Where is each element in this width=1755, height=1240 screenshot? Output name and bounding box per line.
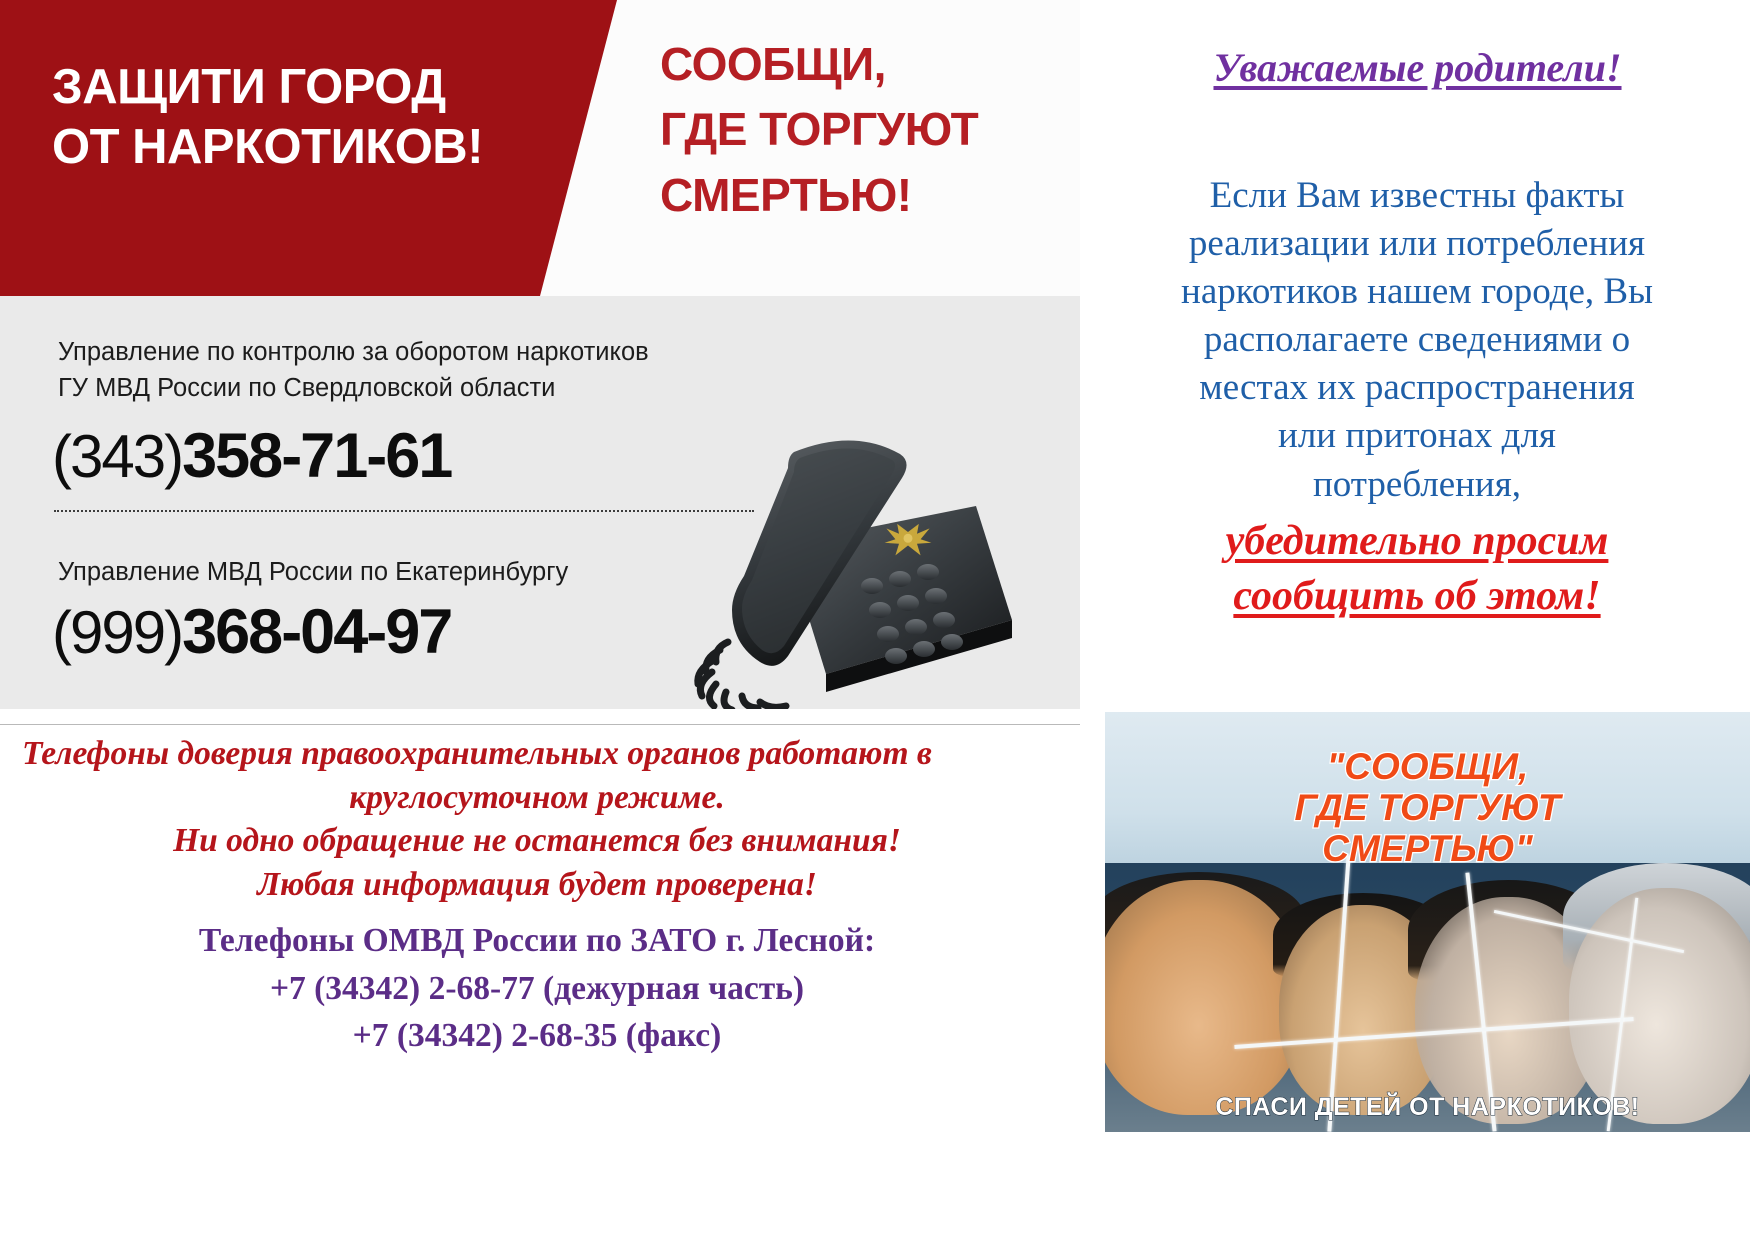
notice-line-4: Любая информация будет проверена! [14, 863, 1060, 907]
omvd-phone-duty: +7 (34342) 2-68-77 (дежурная часть) [14, 965, 1060, 1013]
appeal-call-to-action: убедительно просим сообщить об этом! [1092, 514, 1742, 625]
hotline-phone-2-area: (999) [52, 599, 182, 666]
banner-right-line-3: СМЕРТЬЮ! [660, 163, 1060, 228]
org-name-drug-control-line-1: Управление по контролю за оборотом нарко… [58, 336, 649, 370]
notice-line-3: Ни одно обращение не останется без внима… [14, 819, 1060, 863]
banner-left-slogan: ЗАЩИТИ ГОРОД ОТ НАРКОТИКОВ! [52, 58, 572, 178]
poster-headline-line-3: СМЕРТЬЮ" [1105, 828, 1750, 869]
appeal-body-line-3: наркотиков нашем городе, Вы [1092, 268, 1742, 316]
omvd-phone-fax: +7 (34342) 2-68-35 (факс) [14, 1012, 1060, 1060]
child-4-face [1569, 888, 1750, 1123]
hotline-phone-2: (999)368-04-97 [52, 596, 451, 668]
appeal-body-line-5: местах их распространения [1092, 364, 1742, 412]
banner-right-slogan: СООБЩИ, ГДЕ ТОРГУЮТ СМЕРТЬЮ! [660, 32, 1060, 228]
contact-divider [54, 510, 754, 512]
notice-block: Телефоны доверия правоохранительных орга… [0, 712, 1080, 1240]
notice-text: Телефоны доверия правоохранительных орга… [14, 732, 1060, 906]
appeal-body-line-2: реализации или потребления [1092, 220, 1742, 268]
banner-right-line-1: СООБЩИ, [660, 32, 1060, 97]
poster-headline-line-1: "СООБЩИ, [1105, 746, 1750, 787]
banner-right-line-2: ГДЕ ТОРГУЮТ [660, 97, 1060, 162]
appeal-body-line-4: располагаете сведениями о [1092, 316, 1742, 364]
banner-left-line-2: ОТ НАРКОТИКОВ! [52, 118, 572, 178]
hotline-phone-2-number: 368-04-97 [182, 597, 451, 667]
contact-panel: Управление по контролю за оборотом нарко… [0, 296, 1080, 709]
notice-divider [0, 724, 1080, 725]
right-column: Уважаемые родители! Если Вам известны фа… [1080, 0, 1755, 1240]
poster-headline-line-2: ГДЕ ТОРГУЮТ [1105, 787, 1750, 828]
appeal-red-line-1: убедительно просим [1092, 514, 1742, 569]
appeal-body-line-1: Если Вам известны факты [1092, 172, 1742, 220]
hotline-phone-1-area: (343) [52, 423, 182, 490]
banner-left-line-1: ЗАЩИТИ ГОРОД [52, 58, 572, 118]
hotline-phone-1: (343)358-71-61 [52, 420, 451, 492]
children-poster-photo: "СООБЩИ, ГДЕ ТОРГУЮТ СМЕРТЬЮ" СПАСИ ДЕТЕ… [1105, 712, 1750, 1132]
notice-line-2: круглосуточном режиме. [14, 776, 1060, 820]
top-banner: ЗАЩИТИ ГОРОД ОТ НАРКОТИКОВ! СООБЩИ, ГДЕ … [0, 0, 1080, 296]
appeal-body-line-7: потребления, [1092, 461, 1742, 509]
parents-heading: Уважаемые родители! [1080, 44, 1755, 91]
appeal-red-line-2: сообщить об этом! [1092, 569, 1742, 624]
poster-headline: "СООБЩИ, ГДЕ ТОРГУЮТ СМЕРТЬЮ" [1105, 746, 1750, 870]
hotline-phone-1-number: 358-71-61 [182, 421, 451, 491]
desk-telephone-icon [676, 406, 1016, 709]
org-name-ekaterinburg: Управление МВД России по Екатеринбургу [58, 556, 568, 590]
poster-caption: СПАСИ ДЕТЕЙ ОТ НАРКОТИКОВ! [1105, 1093, 1750, 1122]
appeal-body-text: Если Вам известны факты реализации или п… [1092, 172, 1742, 509]
child-1-face [1105, 880, 1305, 1115]
appeal-body-line-6: или притонах для [1092, 412, 1742, 460]
omvd-title: Телефоны ОМВД России по ЗАТО г. Лесной: [14, 917, 1060, 965]
omvd-contacts: Телефоны ОМВД России по ЗАТО г. Лесной: … [14, 917, 1060, 1060]
left-column: ЗАЩИТИ ГОРОД ОТ НАРКОТИКОВ! СООБЩИ, ГДЕ … [0, 0, 1080, 1240]
org-name-drug-control-line-2: ГУ МВД России по Свердловской области [58, 372, 555, 406]
notice-line-1: Телефоны доверия правоохранительных орга… [14, 732, 1060, 776]
